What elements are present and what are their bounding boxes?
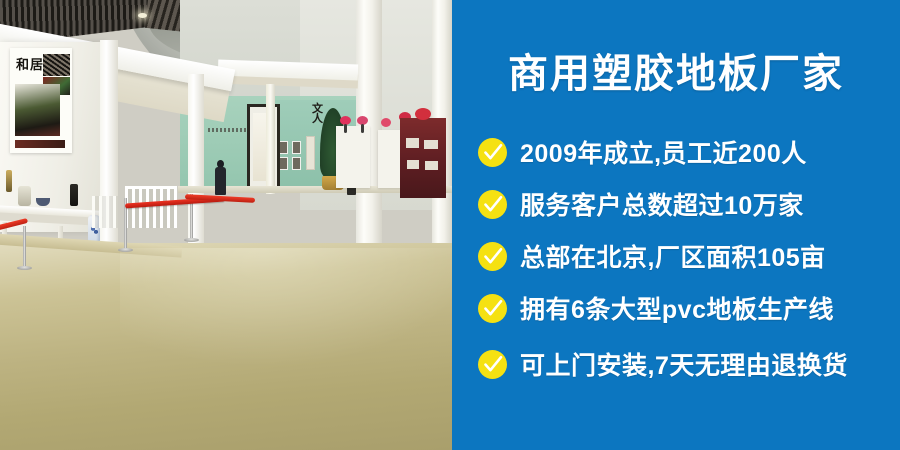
list-item-label: 总部在北京,厂区面积105亩 <box>520 238 826 274</box>
check-circle-icon <box>478 350 507 379</box>
list-item-label: 可上门安装,7天无理由退换货 <box>520 346 848 382</box>
flower-bouquet <box>381 118 391 127</box>
flower-shelf-unit <box>336 126 370 188</box>
list-item: 可上门安装,7天无理由退换货 <box>478 338 898 390</box>
cabinet-shelf-item <box>424 140 438 149</box>
poster-calligraphy-text: 和居 <box>16 54 44 73</box>
floor-light-reflection <box>120 248 452 368</box>
list-item: 服务客户总数超过10万家 <box>478 178 898 230</box>
stanchion-post <box>23 226 26 268</box>
list-item: 拥有6条大型pvc地板生产线 <box>478 282 898 334</box>
poster-image-top <box>43 54 70 76</box>
framed-picture <box>247 104 280 190</box>
page-title: 商用塑胶地板厂家 <box>452 52 900 96</box>
hall-column <box>356 0 382 250</box>
list-item-label: 服务客户总数超过10万家 <box>520 186 804 222</box>
wall-artwork <box>292 141 301 154</box>
promo-banner: 文人 和居 <box>0 0 900 450</box>
display-cabinet <box>400 118 446 198</box>
display-object-lamp <box>6 170 12 192</box>
showroom-photo: 文人 和居 <box>0 0 452 450</box>
wall-artwork <box>292 157 301 170</box>
wall-calligraphy: 文人 <box>312 104 323 125</box>
cabinet-shelf-item <box>406 138 419 148</box>
check-circle-icon <box>478 242 507 271</box>
stanchion-base <box>118 248 133 252</box>
poster-image-base <box>15 140 65 148</box>
stanchion-base <box>184 238 199 242</box>
display-object-jar <box>18 186 31 206</box>
wall-artwork <box>279 157 288 170</box>
white-screen-panel <box>92 196 118 228</box>
cabinet-shelf-item <box>425 161 438 170</box>
pavilion-column <box>266 84 275 194</box>
check-circle-icon <box>478 138 507 167</box>
stanchion-base <box>17 266 32 270</box>
wall-artwork <box>279 141 288 154</box>
display-object-figure <box>70 184 78 206</box>
ceiling-downlight <box>138 13 147 18</box>
check-circle-icon <box>478 294 507 323</box>
cabinet-shelf-item <box>407 160 419 169</box>
wall-artwork-scroll <box>306 136 315 170</box>
poster-image-main <box>15 84 60 136</box>
list-item-label: 拥有6条大型pvc地板生产线 <box>520 290 834 326</box>
flower-vase <box>361 124 364 133</box>
flower-vase <box>344 124 347 133</box>
check-circle-icon <box>478 190 507 219</box>
feature-list: 2009年成立,员工近200人 服务客户总数超过10万家 总部在北京,厂区面积1… <box>478 126 898 390</box>
list-item-label: 2009年成立,员工近200人 <box>520 134 807 170</box>
list-item: 2009年成立,员工近200人 <box>478 126 898 178</box>
visitor-body <box>215 167 226 195</box>
exhibition-poster: 和居 <box>10 48 72 153</box>
promo-text-panel: 商用塑胶地板厂家 2009年成立,员工近200人 服务客户总数超过10万家 <box>452 0 900 450</box>
cabinet-flower <box>415 108 431 120</box>
list-item: 总部在北京,厂区面积105亩 <box>478 230 898 282</box>
